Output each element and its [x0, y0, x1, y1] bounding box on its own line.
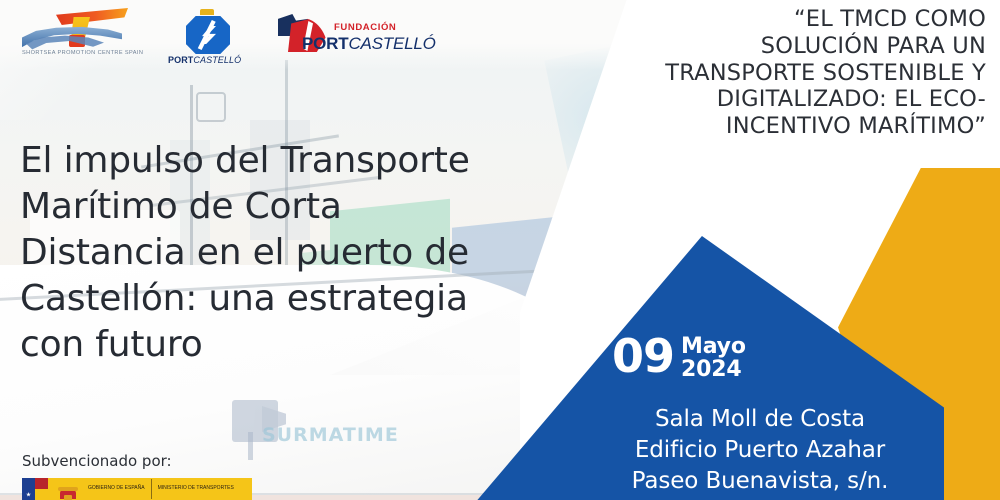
quote-line: TRANSPORTE SOSTENIBLE Y: [586, 60, 986, 87]
ship-funnel-mast: [248, 432, 253, 460]
event-quote-headline: “EL TMCD COMO SOLUCIÓN PARA UN TRANSPORT…: [586, 6, 986, 140]
logo-divider: [151, 479, 152, 499]
spain-flag-icon: [22, 478, 48, 500]
event-year: 2024: [681, 358, 746, 381]
event-venue: Sala Moll de Costa Edificio Puerto Azaha…: [560, 404, 960, 497]
event-date: 09 Mayo 2024: [612, 334, 746, 382]
government-of-spain-logo: GOBIERNO DE ESPAÑA MINISTERIO DE TRANSPO…: [22, 478, 252, 500]
funding-label: Subvencionado por:: [22, 452, 172, 470]
quote-line: INCENTIVO MARÍTIMO”: [586, 113, 986, 140]
portcastello-word-castello: CASTELLÓ: [193, 55, 241, 65]
event-day: 09: [612, 334, 674, 378]
event-month: Mayo: [681, 336, 746, 358]
crown-icon: [200, 9, 214, 15]
fundacion-portcastello-logo: FUNDACIÓN PORTCASTELLÓ: [276, 8, 436, 66]
venue-line: Sala Moll de Costa: [560, 404, 960, 435]
title-line: Marítimo de Corta: [20, 184, 580, 230]
title-line: El impulso del Transporte: [20, 138, 580, 184]
title-line: Distancia en el puerto de: [20, 230, 580, 276]
event-month-year: Mayo 2024: [681, 334, 746, 382]
event-poster: SURMATIME SHORTSEA PROMOTION CENTRE SPAI…: [0, 0, 1000, 500]
quote-line: SOLUCIÓN PARA UN: [586, 33, 986, 60]
crest-dots-icon: [54, 494, 110, 498]
spc-mark-icon: [22, 8, 134, 46]
spc-logo-caption: SHORTSEA PROMOTION CENTRE SPAIN: [22, 50, 143, 56]
venue-line: Paseo Buenavista, s/n.: [560, 466, 960, 497]
portcastello-wordmark: PORTCASTELLÓ: [168, 55, 241, 65]
title-line: Castellón: una estrategia: [20, 276, 580, 322]
title-line: con futuro: [20, 322, 580, 368]
logo-row: SHORTSEA PROMOTION CENTRE SPAIN PORTCAST…: [22, 8, 436, 66]
crane-hook: [196, 92, 226, 122]
shortsea-promotion-centre-spain-logo: SHORTSEA PROMOTION CENTRE SPAIN: [22, 8, 140, 66]
portcastello-logo: PORTCASTELLÓ: [166, 8, 250, 66]
fundacion-eyebrow: FUNDACIÓN: [334, 22, 396, 33]
ministerio-text: MINISTERIO DE TRANSPORTES: [158, 486, 234, 492]
fundacion-word-port: PORT: [302, 34, 348, 53]
fundacion-wordmark: PORTCASTELLÓ: [302, 34, 436, 54]
quote-line: “EL TMCD COMO: [586, 6, 986, 33]
venue-line: Edificio Puerto Azahar: [560, 435, 960, 466]
fundacion-word-castello: CASTELLÓ: [348, 34, 435, 53]
gobierno-de-espana-text: GOBIERNO DE ESPAÑA: [88, 486, 145, 492]
quote-line: DIGITALIZADO: EL ECO-: [586, 86, 986, 113]
ship-name-text: SURMATIME: [262, 424, 399, 446]
portcastello-word-port: PORT: [168, 55, 193, 65]
page-title: El impulso del Transporte Marítimo de Co…: [20, 138, 580, 368]
